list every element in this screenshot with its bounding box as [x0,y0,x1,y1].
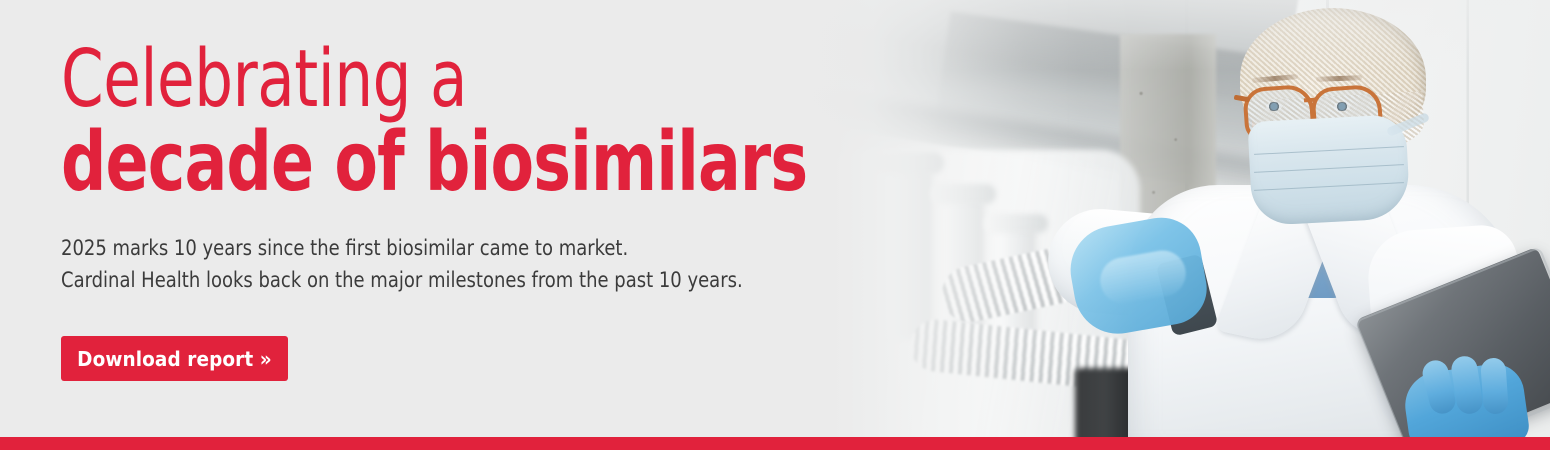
banner-content: Celebrating a decade of biosimilars 2025… [61,0,861,437]
lab-bottle [886,170,932,340]
glove-finger [1480,357,1509,415]
bottom-accent-rule [0,437,1550,450]
lab-bottle-cap [984,214,1048,233]
eyeglasses-bridge [1304,98,1316,103]
subcopy-line-1: 2025 marks 10 years since the first bios… [61,233,743,265]
subcopy: 2025 marks 10 years since the first bios… [61,233,743,297]
headline-line-1: Celebrating a [61,36,467,122]
subcopy-line-2: Cardinal Health looks back on the major … [61,265,743,297]
lab-scientist-photo [790,0,1550,437]
lab-bottle-cap [930,184,996,204]
download-report-button[interactable]: Download report » [61,336,288,381]
biosimilars-promo-banner: Celebrating a decade of biosimilars 2025… [0,0,1550,450]
headline-line-2: decade of biosimilars [61,118,807,208]
scientist-figure [1090,0,1550,437]
lab-bottle-cap [874,152,944,174]
